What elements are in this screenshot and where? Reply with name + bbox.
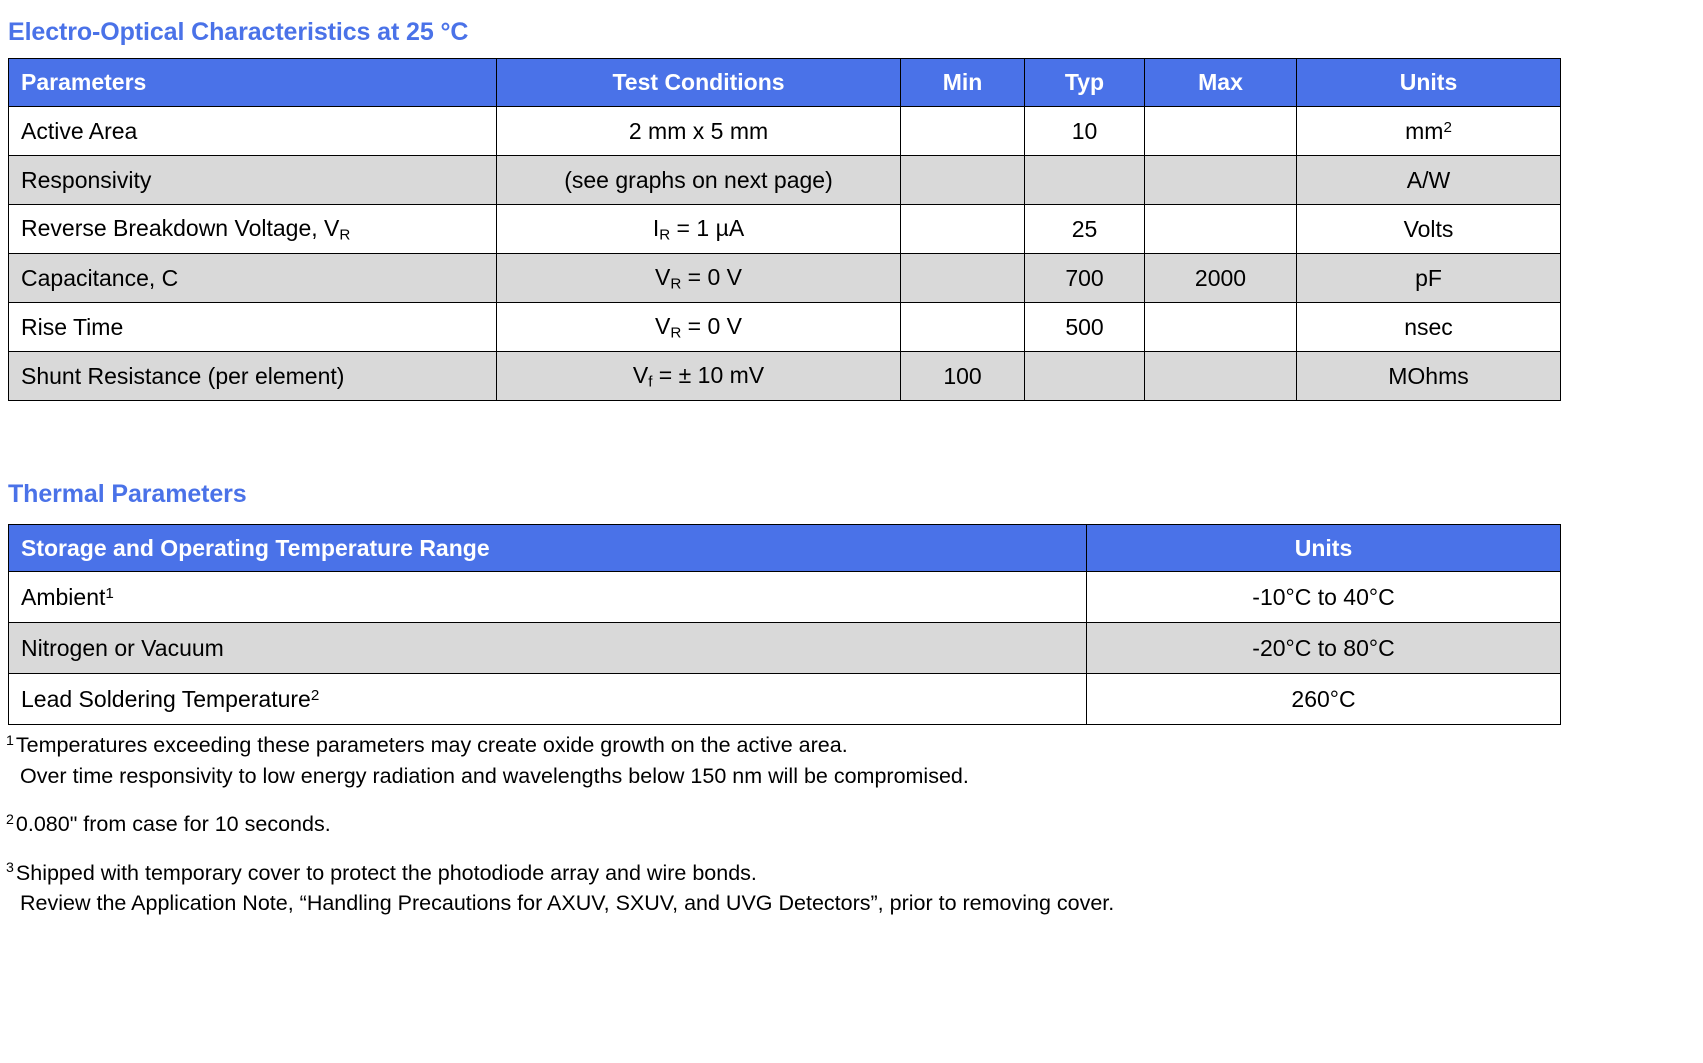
cell-max [1145,156,1297,205]
cell-units: pF [1297,254,1561,303]
datasheet-page: Electro-Optical Characteristics at 25 °C… [0,0,1703,1063]
cell-parameter: Capacitance, C [9,254,497,303]
footnote-line: 20.080" from case for 10 seconds. [6,809,1656,840]
table-row: Lead Soldering Temperature2260°C [9,674,1561,725]
column-header-parameters: Parameters [9,59,497,107]
footnote-line: Review the Application Note, “Handling P… [6,888,1656,919]
cell-typ: 700 [1025,254,1145,303]
cell-test-condition: IR = 1 µA [497,205,901,254]
cell-parameter: Rise Time [9,303,497,352]
column-header-test-conditions: Test Conditions [497,59,901,107]
table-row: Ambient1-10°C to 40°C [9,572,1561,623]
cell-test-condition: VR = 0 V [497,303,901,352]
cell-typ: 10 [1025,107,1145,156]
column-header-storage-operating-temperature-range: Storage and Operating Temperature Range [9,525,1087,572]
cell-typ: 25 [1025,205,1145,254]
cell-max [1145,352,1297,401]
footnote: 20.080" from case for 10 seconds. [6,809,1656,840]
electro-optical-table: Parameters Test Conditions Min Typ Max U… [8,58,1561,401]
column-header-max: Max [1145,59,1297,107]
cell-test-condition: 2 mm x 5 mm [497,107,901,156]
cell-parameter: Shunt Resistance (per element) [9,352,497,401]
cell-temperature-range-label: Ambient1 [9,572,1087,623]
table-header-row: Storage and Operating Temperature Range … [9,525,1561,572]
cell-parameter: Responsivity [9,156,497,205]
cell-min [901,107,1025,156]
thermal-table-header: Storage and Operating Temperature Range … [9,525,1561,572]
column-header-min: Min [901,59,1025,107]
subscript: R [670,275,681,292]
footnote: 1Temperatures exceeding these parameters… [6,730,1656,791]
footnote-marker: 1 [6,733,14,749]
table-row: Nitrogen or Vacuum-20°C to 80°C [9,623,1561,674]
table-row: Responsivity(see graphs on next page)A/W [9,156,1561,205]
thermal-parameters-table: Storage and Operating Temperature Range … [8,524,1561,725]
cell-max: 2000 [1145,254,1297,303]
footnotes-block: 1Temperatures exceeding these parameters… [6,730,1656,937]
cell-min: 100 [901,352,1025,401]
cell-parameter: Active Area [9,107,497,156]
footnote: 3Shipped with temporary cover to protect… [6,858,1656,919]
cell-max [1145,107,1297,156]
footnote-line: Over time responsivity to low energy rad… [6,761,1656,792]
subscript: R [339,226,350,243]
footnote-marker: 1 [105,585,113,602]
footnote-line: 3Shipped with temporary cover to protect… [6,858,1656,889]
table-row: Reverse Breakdown Voltage, VRIR = 1 µA25… [9,205,1561,254]
footnote-marker: 2 [6,812,14,828]
thermal-section-heading: Thermal Parameters [8,480,247,509]
cell-typ [1025,156,1145,205]
cell-test-condition: Vf = ± 10 mV [497,352,901,401]
footnote-marker: 3 [6,860,14,876]
cell-temperature-value: -10°C to 40°C [1087,572,1561,623]
cell-test-condition: VR = 0 V [497,254,901,303]
cell-typ: 500 [1025,303,1145,352]
cell-min [901,205,1025,254]
table-row: Shunt Resistance (per element)Vf = ± 10 … [9,352,1561,401]
column-header-units: Units [1087,525,1561,572]
footnote-marker: 2 [311,687,319,704]
cell-units: A/W [1297,156,1561,205]
cell-max [1145,205,1297,254]
cell-test-condition: (see graphs on next page) [497,156,901,205]
column-header-typ: Typ [1025,59,1145,107]
cell-units: MOhms [1297,352,1561,401]
electro-optical-table-header: Parameters Test Conditions Min Typ Max U… [9,59,1561,107]
cell-units: mm2 [1297,107,1561,156]
table-row: Capacitance, CVR = 0 V7002000pF [9,254,1561,303]
column-header-units: Units [1297,59,1561,107]
superscript: 2 [1443,119,1451,136]
cell-min [901,156,1025,205]
cell-temperature-value: -20°C to 80°C [1087,623,1561,674]
table-row: Active Area2 mm x 5 mm10mm2 [9,107,1561,156]
cell-max [1145,303,1297,352]
cell-units: nsec [1297,303,1561,352]
cell-temperature-value: 260°C [1087,674,1561,725]
cell-min [901,303,1025,352]
cell-temperature-range-label: Lead Soldering Temperature2 [9,674,1087,725]
electro-optical-table-body: Active Area2 mm x 5 mm10mm2Responsivity(… [9,107,1561,401]
cell-typ [1025,352,1145,401]
cell-units: Volts [1297,205,1561,254]
table-header-row: Parameters Test Conditions Min Typ Max U… [9,59,1561,107]
cell-temperature-range-label: Nitrogen or Vacuum [9,623,1087,674]
footnote-line: 1Temperatures exceeding these parameters… [6,730,1656,761]
subscript: R [670,324,681,341]
cell-min [901,254,1025,303]
cell-parameter: Reverse Breakdown Voltage, VR [9,205,497,254]
subscript: R [659,226,670,243]
thermal-table-body: Ambient1-10°C to 40°CNitrogen or Vacuum-… [9,572,1561,725]
electro-optical-section-heading: Electro-Optical Characteristics at 25 °C [8,18,468,47]
table-row: Rise TimeVR = 0 V500nsec [9,303,1561,352]
subscript: f [648,373,652,390]
